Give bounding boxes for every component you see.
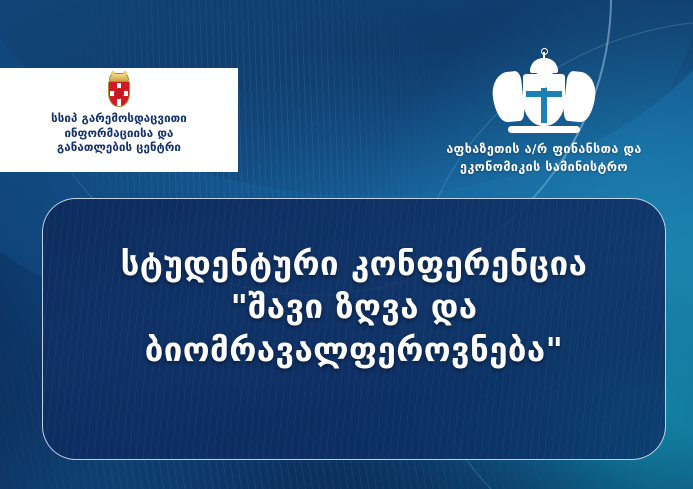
saint-george-horse-icon xyxy=(114,88,124,99)
abkhazia-coat-of-arms-icon xyxy=(485,58,603,134)
left-logo-line-3: განათლების ცენტრი xyxy=(51,140,187,155)
right-ministry-name: აფხაზეთის ა/რ ფინანსთა და ეკონომიკის სამ… xyxy=(408,140,680,176)
georgian-coat-of-arms-icon xyxy=(106,73,132,109)
title-line-3: ბიომრავალფეროვნება" xyxy=(121,329,588,372)
title-panel: სტუდენტური კონფერენცია "შავი ზღვა და ბიო… xyxy=(42,198,666,460)
emblem-base-scroll xyxy=(508,126,580,133)
left-logo-line-1: სსიპ გარემოსდაცვითი xyxy=(51,111,187,126)
title-line-1: სტუდენტური კონფერენცია xyxy=(121,243,588,286)
ministry-line-1: აფხაზეთის ა/რ ფინანსთა და xyxy=(408,140,680,158)
left-logo-line-2: ინფორმაციისა და xyxy=(51,126,187,141)
left-organization-name: სსიპ გარემოსდაცვითი ინფორმაციისა და განა… xyxy=(51,111,187,155)
ministry-line-2: ეკონომიკის სამინისტრო xyxy=(408,158,680,176)
right-ministry-logo: აფხაზეთის ა/რ ფინანსთა და ეკონომიკის სამ… xyxy=(408,58,680,176)
shield-icon xyxy=(108,81,130,107)
left-organization-logo-card: სსიპ გარემოსდაცვითი ინფორმაციისა და განა… xyxy=(0,68,238,172)
conference-title: სტუდენტური კონფერენცია "შავი ზღვა და ბიო… xyxy=(107,243,602,372)
title-line-2: "შავი ზღვა და xyxy=(121,286,588,329)
conference-poster: სსიპ გარემოსდაცვითი ინფორმაციისა და განა… xyxy=(0,0,693,489)
lion-supporter-left-icon xyxy=(490,71,525,124)
saint-george-rider-icon xyxy=(535,69,553,88)
lion-supporter-right-icon xyxy=(562,71,597,124)
